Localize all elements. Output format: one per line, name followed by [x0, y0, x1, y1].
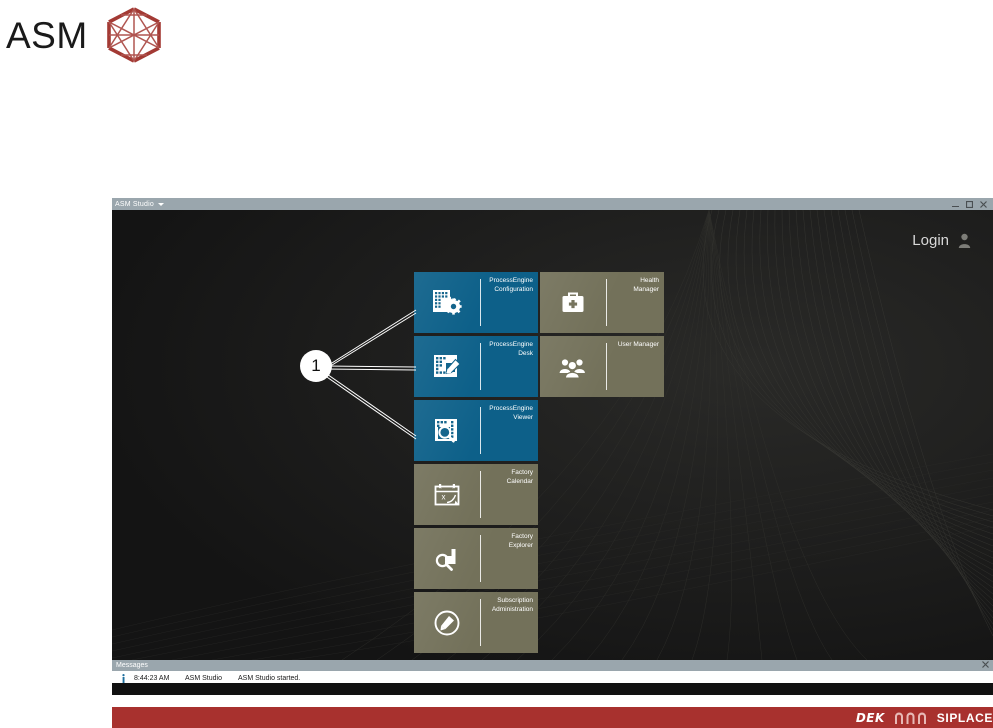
tile-label-line1: Subscription [481, 597, 533, 606]
page-root: ASM [0, 0, 993, 728]
window-titlebar[interactable]: ASM Studio [112, 198, 993, 210]
tile-label: Factory Calendar [481, 464, 538, 525]
first-aid-kit-icon [540, 272, 606, 333]
tile-label-line2: Calendar [481, 478, 533, 487]
tile-column-left: ProcessEngine Configuration [414, 272, 538, 653]
tile-label-line1: ProcessEngine [481, 277, 533, 286]
callout-badge-1: 1 [300, 350, 332, 382]
user-group-icon [540, 336, 606, 397]
messages-close-button[interactable] [982, 661, 989, 670]
tile-label-line2: Explorer [481, 542, 533, 551]
tile-label-line1: User Manager [607, 341, 659, 350]
user-avatar-icon[interactable] [958, 233, 971, 248]
tile-factory-explorer[interactable]: Factory Explorer [414, 528, 538, 589]
tile-label-line2: Manager [607, 286, 659, 295]
window-title: ASM Studio [115, 201, 154, 208]
tile-label: Factory Explorer [481, 528, 538, 589]
close-button[interactable] [980, 201, 987, 208]
arches-logo-icon [894, 712, 928, 724]
login-control[interactable]: Login [912, 232, 971, 249]
tile-label-line1: ProcessEngine [481, 405, 533, 414]
message-time: 8:44:23 AM [134, 675, 178, 682]
caret-down-icon[interactable] [158, 203, 164, 206]
brand-header: ASM [6, 6, 166, 64]
brand-footer: DEK SIPLACE [112, 707, 993, 728]
info-icon [120, 674, 127, 683]
tile-label: User Manager [607, 336, 664, 397]
studio-canvas: Login 1 [112, 210, 993, 660]
tile-label-line2: Administration [481, 606, 533, 615]
messages-panel: Messages 8:44:23 AM ASM Studio ASM Studi… [112, 660, 993, 683]
dek-wordmark: DEK [856, 711, 885, 725]
grid-magnifier-icon [414, 400, 480, 461]
tile-label: ProcessEngine Viewer [481, 400, 538, 461]
brand-name: ASM [6, 17, 88, 54]
tile-grid: ProcessEngine Configuration [414, 272, 664, 653]
siplace-wordmark: SIPLACE [937, 711, 993, 725]
message-source: ASM Studio [185, 675, 231, 682]
tile-processengine-viewer[interactable]: ProcessEngine Viewer [414, 400, 538, 461]
messages-header[interactable]: Messages [112, 660, 993, 671]
calendar-icon: x [414, 464, 480, 525]
tile-health-manager[interactable]: Health Manager [540, 272, 664, 333]
tile-processengine-configuration[interactable]: ProcessEngine Configuration [414, 272, 538, 333]
tile-user-manager[interactable]: User Manager [540, 336, 664, 397]
minimize-button[interactable] [952, 201, 959, 208]
hexagon-wireframe-icon [102, 6, 166, 64]
grid-gear-icon [414, 272, 480, 333]
subscription-circle-icon [414, 592, 480, 653]
tile-label-line1: Health [607, 277, 659, 286]
tile-label-line1: Factory [481, 533, 533, 542]
grid-edit-icon [414, 336, 480, 397]
tile-label: ProcessEngine Desk [481, 336, 538, 397]
message-text: ASM Studio started. [238, 675, 300, 682]
titlebar-left[interactable]: ASM Studio [115, 201, 164, 208]
login-label: Login [912, 232, 949, 249]
messages-title: Messages [116, 662, 148, 669]
tile-label-line2: Viewer [481, 414, 533, 423]
tile-label-line1: ProcessEngine [481, 341, 533, 350]
tile-factory-calendar[interactable]: x Factory Calendar [414, 464, 538, 525]
maximize-button[interactable] [966, 201, 973, 208]
tile-label-line1: Factory [481, 469, 533, 478]
window-controls[interactable] [952, 201, 990, 208]
tile-column-right: Health Manager [540, 272, 664, 397]
svg-text:x: x [442, 492, 446, 501]
tile-label: Health Manager [607, 272, 664, 333]
tile-subscription-administration[interactable]: Subscription Administration [414, 592, 538, 653]
tile-label-line2: Desk [481, 350, 533, 359]
tile-label: ProcessEngine Configuration [481, 272, 538, 333]
tile-processengine-desk[interactable]: ProcessEngine Desk [414, 336, 538, 397]
message-row[interactable]: 8:44:23 AM ASM Studio ASM Studio started… [112, 671, 993, 683]
explorer-magnifier-icon [414, 528, 480, 589]
asm-studio-window: ASM Studio [112, 198, 993, 695]
tile-label: Subscription Administration [481, 592, 538, 653]
tile-label-line2: Configuration [481, 286, 533, 295]
